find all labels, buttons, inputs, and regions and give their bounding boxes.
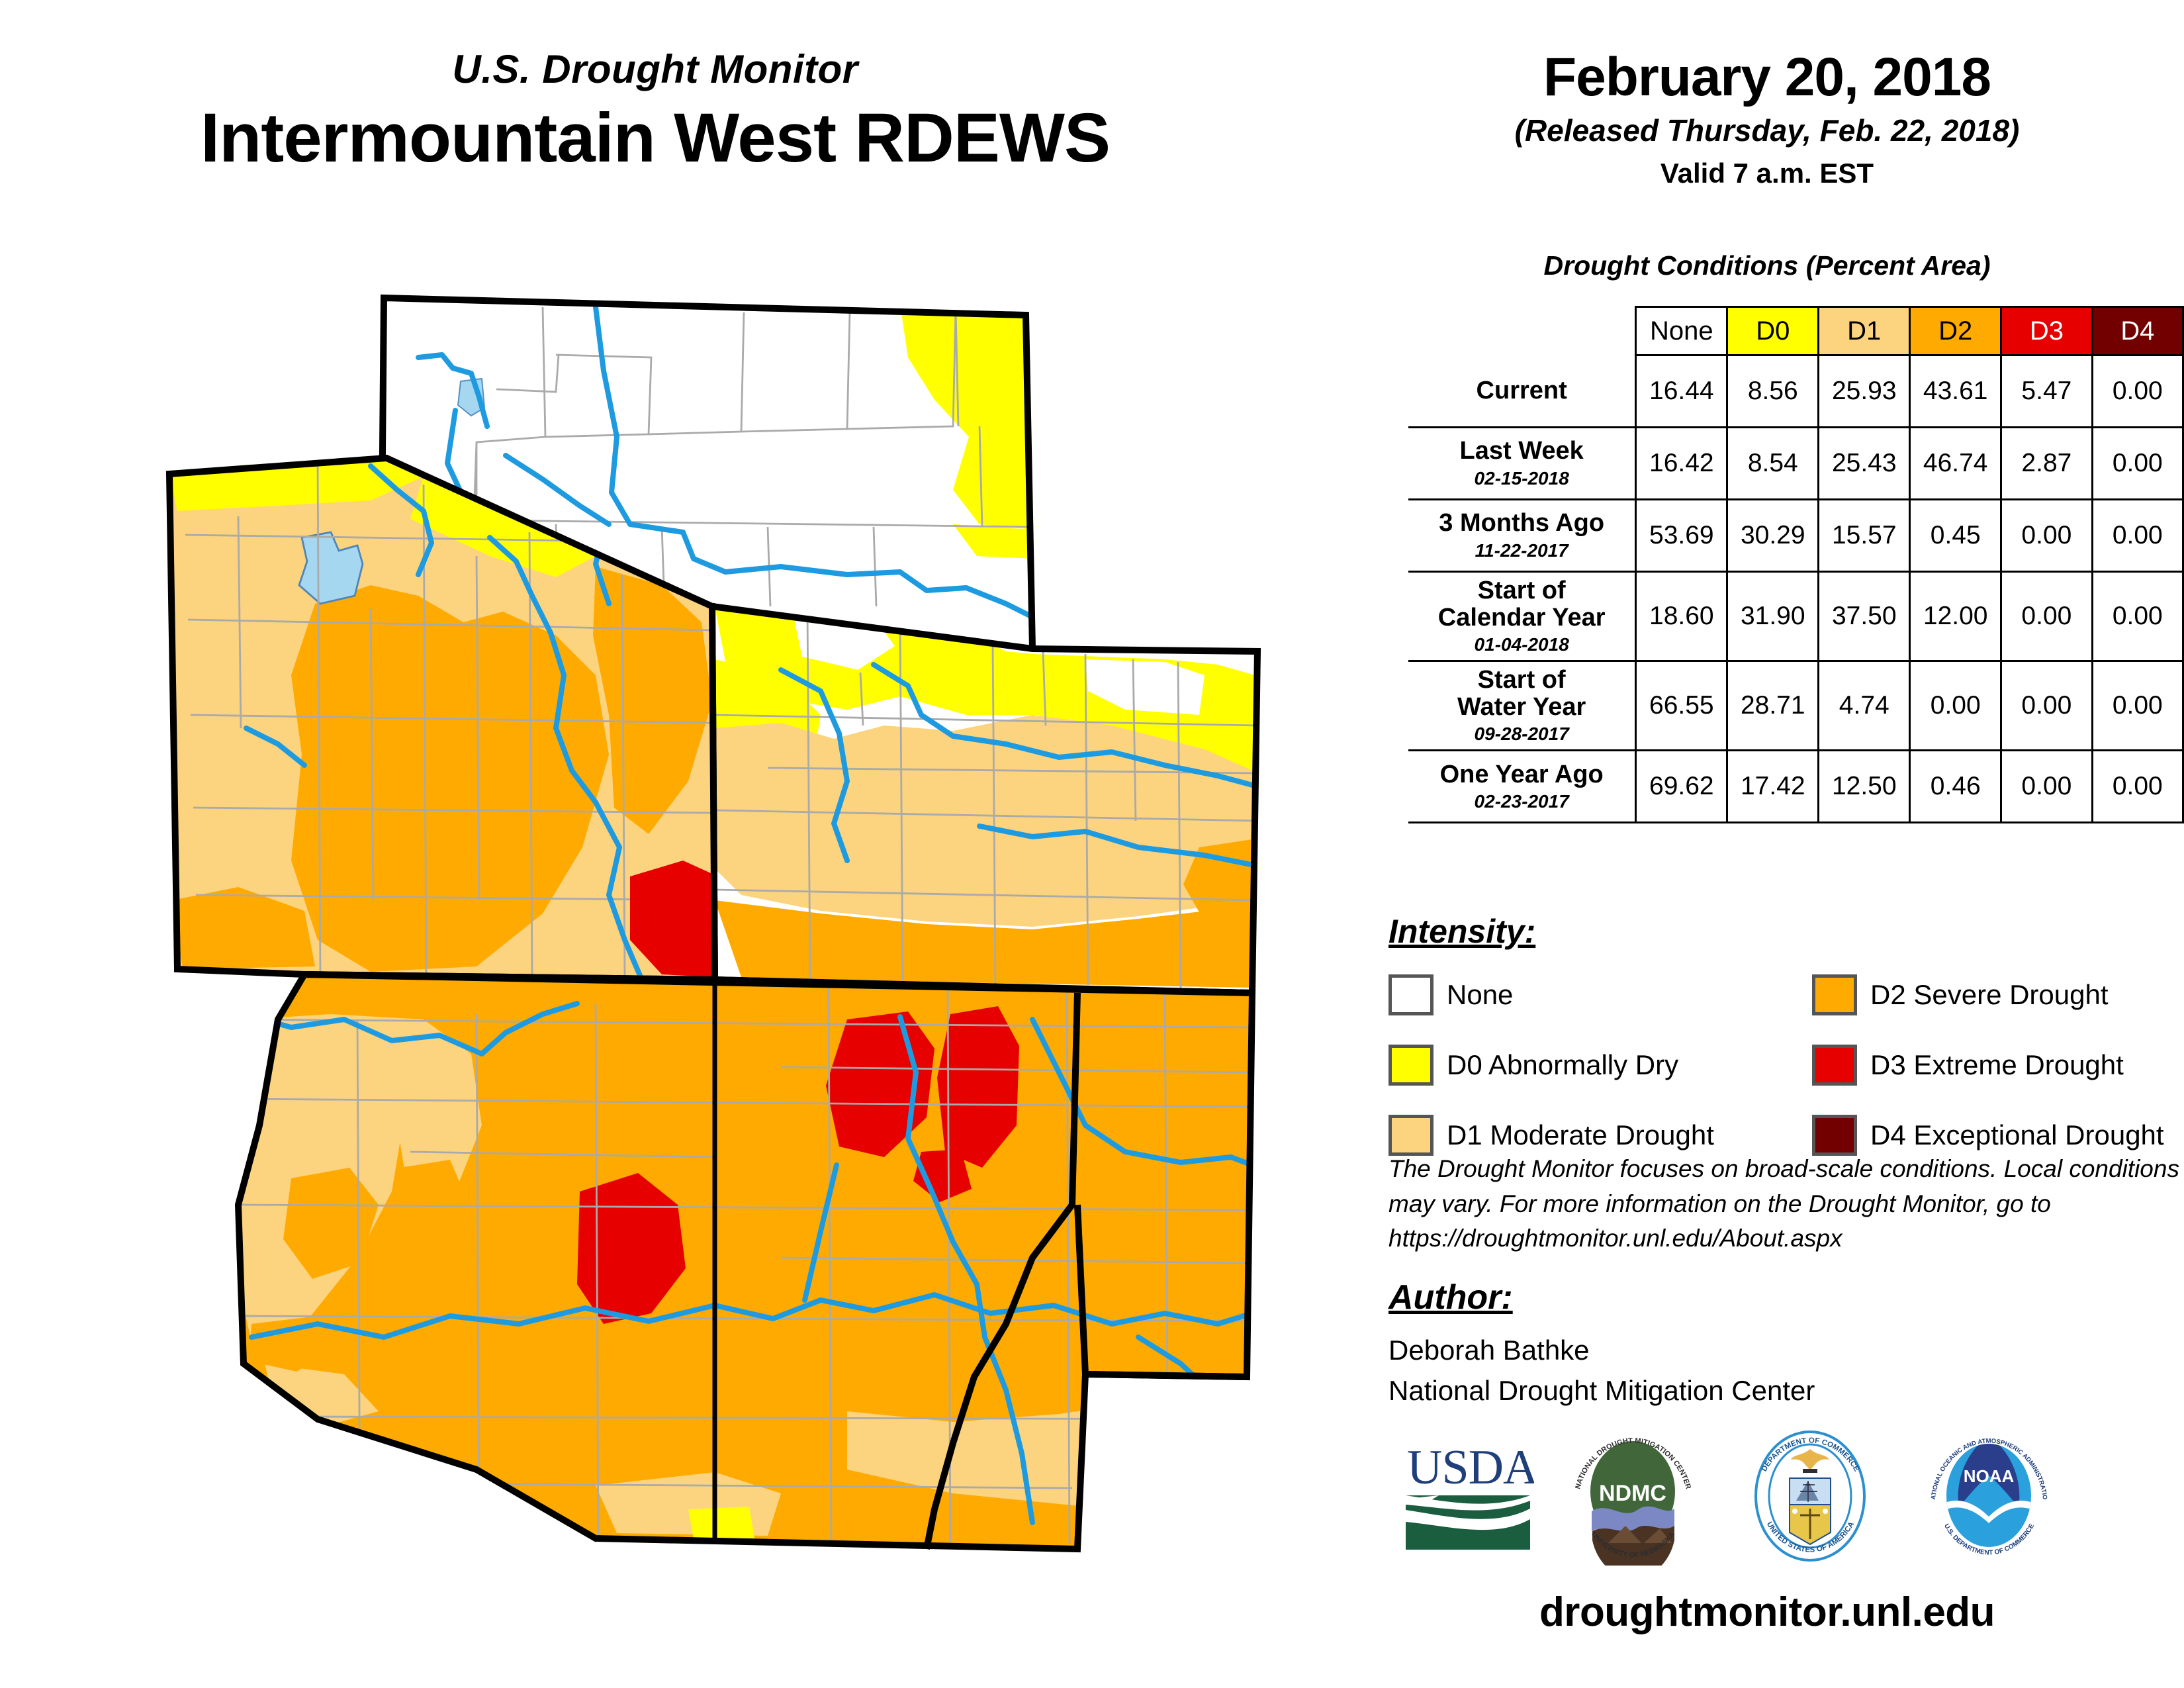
cell-d2: 0.45 [1910,500,2001,572]
table-col-header-d0: D0 [1727,307,1819,355]
row-label: Start ofCalendar Year01-04-2018 [1408,572,1636,661]
table-col-header-d1: D1 [1819,307,1910,355]
cell-none: 18.60 [1636,572,1727,661]
product-title: U.S. Drought Monitor [0,46,1310,92]
row-date: 02-15-2018 [1414,468,1629,489]
cell-d1: 4.74 [1819,661,1910,751]
legend-item: D2 Severe Drought [1812,968,2164,1022]
table-row: 3 Months Ago11-22-201753.6930.2915.570.4… [1408,500,2183,572]
table-col-header-d3: D3 [2001,307,2092,355]
legend-swatch [1812,974,1857,1015]
table-row: One Year Ago02-23-201769.6217.4212.500.4… [1408,751,2183,823]
cell-d2: 12.00 [1910,572,2001,661]
cell-none: 66.55 [1636,661,1727,751]
row-name: Last Week [1414,438,1629,465]
table-corner-cell [1408,307,1636,355]
legend-column-left: NoneD0 Abnormally DryD1 Moderate Drought [1388,968,1714,1178]
legend-column-right: D2 Severe DroughtD3 Extreme DroughtD4 Ex… [1812,968,2164,1178]
cell-d4: 0.00 [2092,428,2183,500]
author-affiliation: National Drought Mitigation Center [1388,1371,1815,1411]
table-row: Current16.448.5625.9343.615.470.00 [1408,355,2183,428]
map-svg [159,278,1271,1569]
cell-d1: 37.50 [1819,572,1910,661]
legend-item: D3 Extreme Drought [1812,1038,2164,1092]
table-header-row: NoneD0D1D2D3D4 [1408,307,2183,355]
disclaimer-text: The Drought Monitor focuses on broad-sca… [1388,1152,2183,1256]
row-date: 11-22-2017 [1414,540,1629,561]
cell-d4: 0.00 [2092,355,2183,428]
legend-label: D0 Abnormally Dry [1447,1049,1678,1081]
row-name: 3 Months Ago [1414,510,1629,537]
row-label: Start ofWater Year09-28-2017 [1408,661,1636,751]
row-date: 01-04-2018 [1414,634,1629,655]
legend-label: D3 Extreme Drought [1870,1049,2124,1081]
row-name: Start ofWater Year [1414,667,1629,721]
drought-map [159,278,1271,1569]
table-row: Start ofWater Year09-28-201766.5528.714.… [1408,661,2183,751]
cell-d0: 8.56 [1727,355,1819,428]
legend-item: D0 Abnormally Dry [1388,1038,1714,1092]
valid-date: February 20, 2018 [1377,46,2158,109]
cell-d2: 0.46 [1910,751,2001,823]
row-name: One Year Ago [1414,761,1629,788]
svg-text:NDMC: NDMC [1599,1481,1666,1506]
date-block: February 20, 2018 (Released Thursday, Fe… [1377,46,2158,189]
row-date: 02-23-2017 [1414,791,1629,812]
svg-text:NOAA: NOAA [1964,1466,2015,1486]
cell-d4: 0.00 [2092,572,2183,661]
legend-swatch [1812,1115,1857,1156]
ndmc-logo: NDMC NATIONAL DROUGHT MITIGATION CENTER … [1562,1427,1704,1569]
intensity-heading: Intensity: [1388,912,1535,951]
cell-d4: 0.00 [2092,751,2183,823]
cell-d2: 43.61 [1910,355,2001,428]
cell-d0: 8.54 [1727,428,1819,500]
footer-url: droughtmonitor.unl.edu [1377,1589,2158,1636]
cell-d3: 5.47 [2001,355,2092,428]
table-caption: Drought Conditions (Percent Area) [1377,250,2158,281]
legend-label: D2 Severe Drought [1870,979,2109,1011]
cell-d0: 17.42 [1727,751,1819,823]
cell-d1: 15.57 [1819,500,1910,572]
cell-none: 53.69 [1636,500,1727,572]
row-name: Start ofCalendar Year [1414,577,1629,632]
svg-text:USDA: USDA [1407,1440,1534,1495]
drought-conditions-table: NoneD0D1D2D3D4 Current16.448.5625.9343.6… [1408,306,2184,823]
table-col-header-none: None [1636,307,1727,355]
cell-d1: 25.93 [1819,355,1910,428]
cell-d0: 31.90 [1727,572,1819,661]
state-wyoming [702,596,1271,1006]
author-name: Deborah Bathke [1388,1331,1815,1371]
cell-d1: 25.43 [1819,428,1910,500]
cell-none: 16.42 [1636,428,1727,500]
legend-label: None [1447,979,1513,1011]
legend-label: D4 Exceptional Drought [1870,1119,2164,1151]
state-arizona-newmexico [225,966,1271,1562]
agency-logos: USDA NDMC NATIONAL DROUGHT MITIGATION CE… [1388,1427,2130,1569]
row-label: One Year Ago02-23-2017 [1408,751,1636,823]
cell-d4: 0.00 [2092,661,2183,751]
region-title: Intermountain West RDEWS [0,99,1310,178]
cell-d0: 28.71 [1727,661,1819,751]
legend-swatch [1388,1045,1433,1086]
title-block: U.S. Drought Monitor Intermountain West … [0,46,1310,178]
table-row: Start ofCalendar Year01-04-201818.6031.9… [1408,572,2183,661]
table-col-header-d4: D4 [2092,307,2183,355]
table-col-header-d2: D2 [1910,307,2001,355]
row-label: 3 Months Ago11-22-2017 [1408,500,1636,572]
legend-label: D1 Moderate Drought [1447,1119,1714,1151]
cell-d3: 0.00 [2001,500,2092,572]
legend-swatch [1388,974,1433,1015]
legend-swatch [1812,1045,1857,1086]
legend-item: None [1388,968,1714,1022]
row-name: Current [1414,377,1629,404]
valid-time: Valid 7 a.m. EST [1377,158,2158,189]
usda-logo: USDA [1402,1427,1534,1562]
cell-d3: 0.00 [2001,751,2092,823]
released-date: (Released Thursday, Feb. 22, 2018) [1377,113,2158,148]
table-row: Last Week02-15-201816.428.5425.4346.742.… [1408,428,2183,500]
cell-d2: 46.74 [1910,428,2001,500]
cell-d3: 0.00 [2001,661,2092,751]
cell-d2: 0.00 [1910,661,2001,751]
row-label: Last Week02-15-2018 [1408,428,1636,500]
author-block: Deborah Bathke National Drought Mitigati… [1388,1331,1815,1411]
author-heading: Author: [1388,1278,1513,1317]
cell-d3: 2.87 [2001,428,2092,500]
doc-logo: DEPARTMENT OF COMMERCE UNITED STATES OF … [1739,1427,1882,1569]
cell-none: 69.62 [1636,751,1727,823]
cell-none: 16.44 [1636,355,1727,428]
row-date: 09-28-2017 [1414,724,1629,745]
row-label: Current [1408,355,1636,428]
cell-d4: 0.00 [2092,500,2183,572]
legend-swatch [1388,1115,1433,1156]
noaa-logo: NOAA NATIONAL OCEANIC AND ATMOSPHERIC AD… [1918,1427,2060,1569]
cell-d3: 0.00 [2001,572,2092,661]
cell-d0: 30.29 [1727,500,1819,572]
cell-d1: 12.50 [1819,751,1910,823]
